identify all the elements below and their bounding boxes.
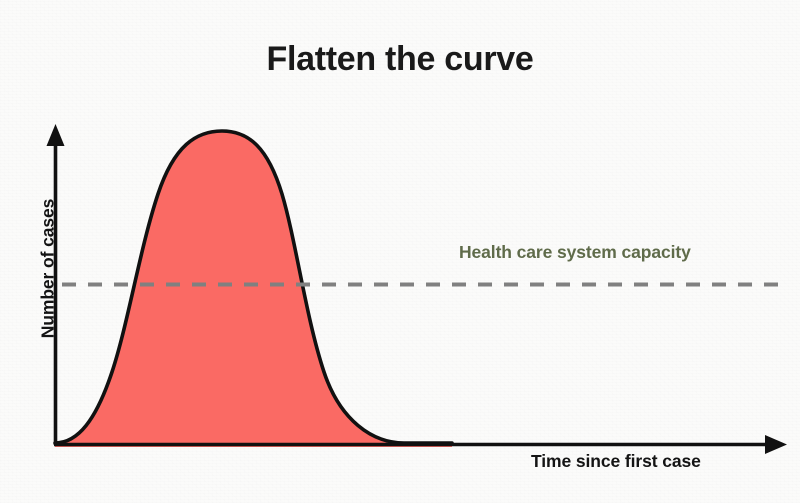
y-axis-label: Number of cases bbox=[38, 174, 59, 364]
epidemic-curve-area bbox=[55, 131, 452, 447]
arrow-right-icon bbox=[765, 435, 787, 454]
x-axis-label: Time since first case bbox=[531, 451, 701, 472]
arrow-up-icon bbox=[47, 124, 65, 146]
capacity-annotation-label: Health care system capacity bbox=[459, 242, 691, 263]
flatten-the-curve-figure: Flatten the curve Health care system cap… bbox=[0, 0, 800, 503]
